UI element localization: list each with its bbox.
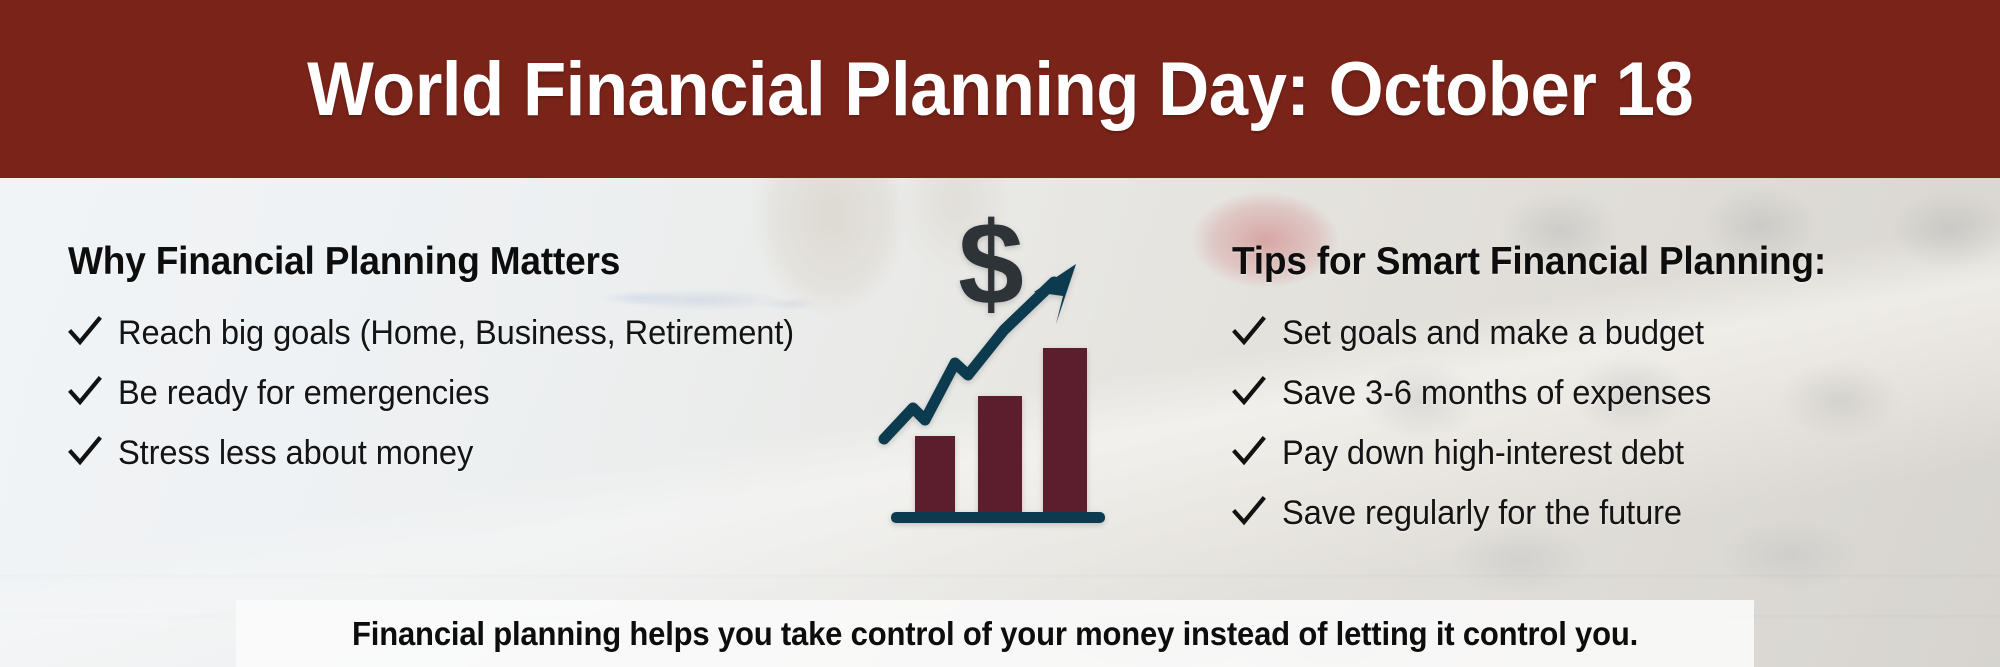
footer-quote-banner: Financial planning helps you take contro… [236, 600, 1754, 667]
dollar-sign-icon: $ [958, 212, 1024, 330]
header-banner: World Financial Planning Day: October 18 [0, 0, 2000, 178]
list-item-label: Be ready for emergencies [118, 374, 489, 413]
right-column-heading: Tips for Smart Financial Planning: [1232, 240, 1935, 284]
page-title: World Financial Planning Day: October 18 [307, 46, 1693, 133]
growth-bar-chart-icon: $ [858, 212, 1120, 534]
list-item: Stress less about money [68, 430, 868, 473]
list-item: Set goals and make a budget [1232, 310, 1972, 353]
right-tips-list: Set goals and make a budget Save 3-6 mon… [1232, 310, 1972, 533]
list-item: Save regularly for the future [1232, 490, 1972, 533]
list-item: Pay down high-interest debt [1232, 430, 1972, 473]
left-benefits-list: Reach big goals (Home, Business, Retirem… [68, 310, 868, 473]
right-column: Tips for Smart Financial Planning: Set g… [1232, 240, 1972, 550]
check-icon [1232, 495, 1266, 529]
bar-3 [1043, 348, 1087, 512]
list-item: Reach big goals (Home, Business, Retirem… [68, 310, 868, 353]
list-item-label: Save regularly for the future [1282, 494, 1682, 533]
check-icon [1232, 435, 1266, 469]
list-item-label: Stress less about money [118, 434, 473, 473]
list-item-label: Set goals and make a budget [1282, 314, 1704, 353]
check-icon [68, 315, 102, 349]
check-icon [1232, 315, 1266, 349]
list-item-label: Reach big goals (Home, Business, Retirem… [118, 314, 794, 353]
svg-text:$: $ [958, 212, 1024, 330]
check-icon [1232, 375, 1266, 409]
list-item-label: Pay down high-interest debt [1282, 434, 1684, 473]
check-icon [68, 375, 102, 409]
footer-quote-text: Financial planning helps you take contro… [352, 615, 1638, 653]
check-icon [68, 435, 102, 469]
list-item-label: Save 3-6 months of expenses [1282, 374, 1711, 413]
list-item: Be ready for emergencies [68, 370, 868, 413]
list-item: Save 3-6 months of expenses [1232, 370, 1972, 413]
left-column: Why Financial Planning Matters Reach big… [68, 240, 868, 490]
chart-baseline [891, 512, 1105, 523]
left-column-heading: Why Financial Planning Matters [68, 240, 828, 284]
infographic-poster: World Financial Planning Day: October 18… [0, 0, 2000, 667]
bar-1 [915, 436, 955, 512]
bar-2 [978, 396, 1022, 512]
